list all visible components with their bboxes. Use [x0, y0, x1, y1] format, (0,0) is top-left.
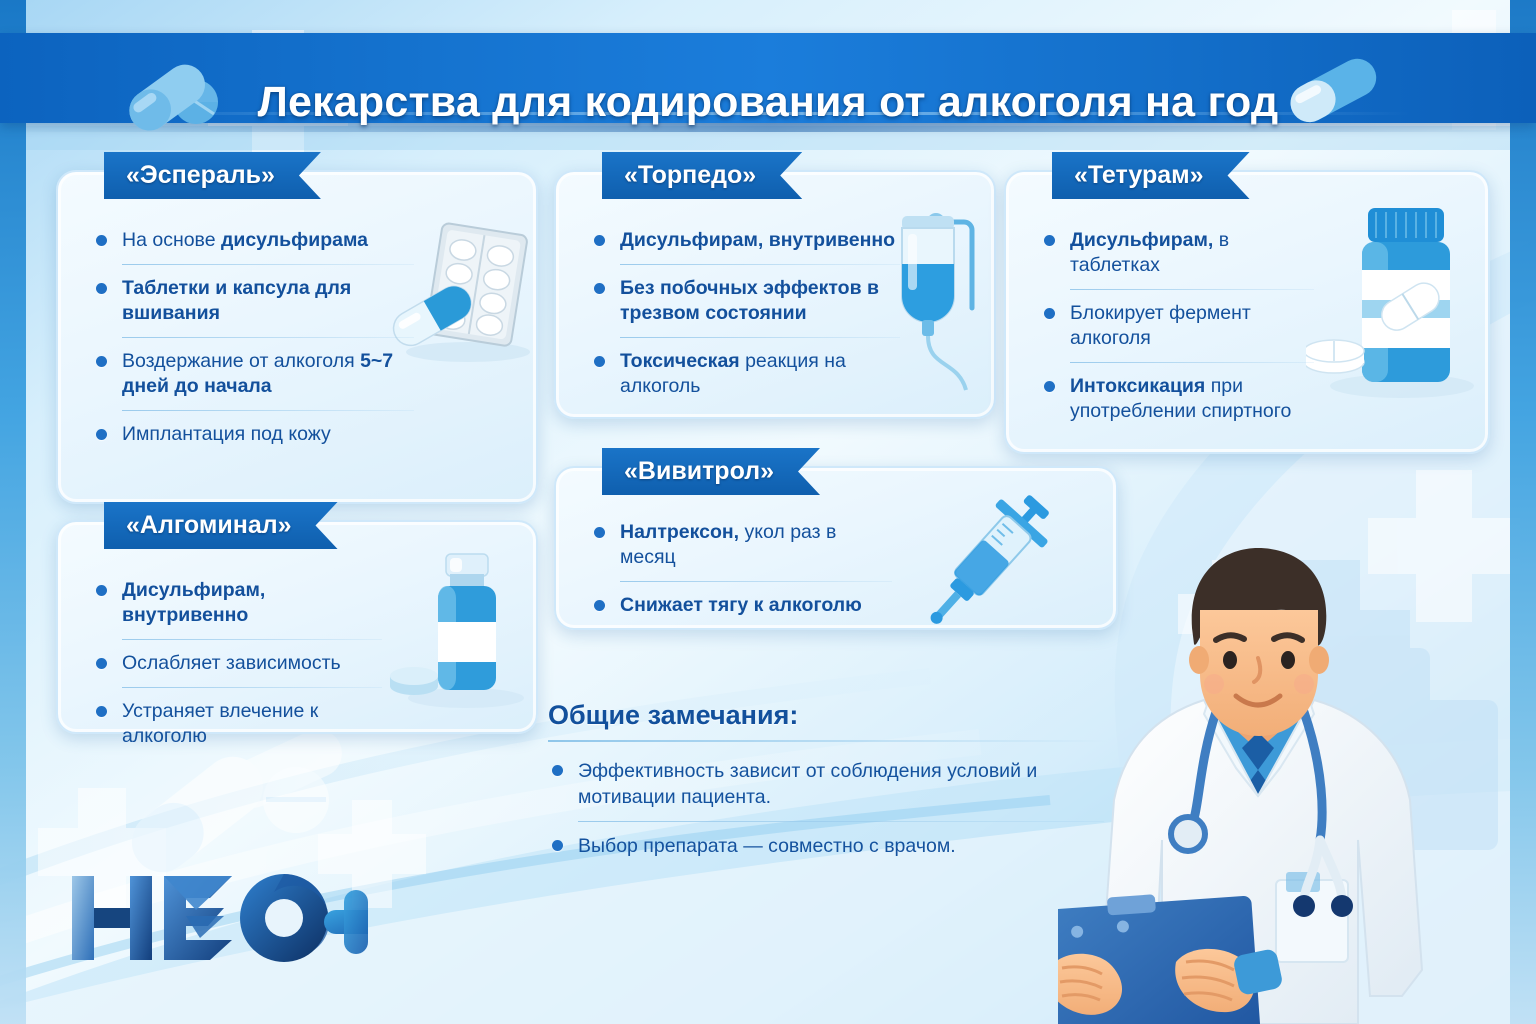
logo-letter-e	[164, 876, 232, 960]
vial-and-tablet-illustration	[388, 546, 538, 716]
bullet-separator	[122, 264, 414, 265]
bullet-item: Дисульфирам, внутривенно	[92, 578, 386, 628]
card-teturam[interactable]: «Тетурам» Дисульфирам, в та	[1004, 170, 1490, 454]
card-title-teturam: «Тетурам»	[1052, 152, 1250, 199]
bullet-list-torpedo: Дисульфирам, внутривенноБез побочных эфф…	[590, 228, 904, 399]
bullet-dot-icon	[96, 235, 107, 246]
bullet-text: Снижает тягу к алкоголю	[620, 594, 862, 616]
bullet-dot-icon	[594, 235, 605, 246]
doctor-with-clipboard-illustration	[1058, 500, 1528, 1024]
bullet-list-teturam: Дисульфирам, в таблеткахБлокирует фермен…	[1040, 228, 1318, 424]
bullet-separator	[620, 264, 900, 265]
bullet-dot-icon	[96, 706, 107, 717]
bullet-dot-icon	[552, 765, 563, 776]
card-esperal[interactable]: «Эспераль» На основе дисульфирамаТа	[56, 170, 538, 504]
bullet-dot-icon	[1044, 381, 1055, 392]
bullet-item: Воздержание от алкоголя 5~7 дней до нача…	[92, 349, 418, 399]
note-text: Выбор препарата — совместно с врачом.	[578, 835, 956, 857]
bullet-text: Ослабляет зависимость	[122, 652, 341, 674]
card-title-esperal: «Эспераль»	[104, 152, 321, 199]
page-title: Лекарства для кодирования от алкоголя на…	[0, 78, 1536, 127]
bullet-separator	[122, 687, 382, 688]
bullet-item: На основе дисульфирама	[92, 228, 418, 253]
bullet-item: Устраняет влечение к алкоголю	[92, 699, 386, 749]
bullet-dot-icon	[96, 585, 107, 596]
bullet-text: Без побочных эффектов в трезвом состояни…	[620, 277, 879, 324]
bullet-dot-icon	[594, 356, 605, 367]
bullet-item: Таблетки и капсула для вшивания	[92, 276, 418, 326]
logo-neo-plus[interactable]	[68, 868, 368, 972]
bullet-text: Токсическая	[620, 350, 740, 372]
bullet-dot-icon	[552, 840, 563, 851]
pill-bottle-illustration	[1306, 196, 1486, 406]
bullet-text: Интоксикация	[1070, 375, 1205, 397]
logo-letter-o	[240, 874, 329, 962]
bullet-dot-icon	[96, 658, 107, 669]
bullet-text: дисульфирама	[221, 229, 368, 251]
card-algominal[interactable]: «Алгоминал» Дисульфирам, внутривенноОсла…	[56, 520, 538, 734]
bullet-text: Устраняет влечение к алкоголю	[122, 700, 318, 747]
bullet-text: Таблетки и капсула	[122, 277, 310, 299]
bullet-dot-icon	[594, 527, 605, 538]
bullet-text: На основе	[122, 229, 221, 251]
note-separator	[578, 821, 1104, 822]
note-text: Эффективность зависит от соблюдения усло…	[578, 760, 1037, 808]
bullet-dot-icon	[96, 356, 107, 367]
notes-list: Эффективность зависит от соблюдения усло…	[548, 758, 1108, 859]
bullet-dot-icon	[1044, 308, 1055, 319]
bullet-item: Дисульфирам, в таблетках	[1040, 228, 1318, 278]
card-title-torpedo: «Торпедо»	[602, 152, 802, 199]
bullet-item: Без побочных эффектов в трезвом состояни…	[590, 276, 904, 326]
bullet-text: Дисульфирам,	[1070, 229, 1213, 251]
bullet-separator	[1070, 362, 1314, 363]
infographic-poster: Лекарства для кодирования от алкоголя на…	[0, 0, 1536, 1024]
card-torpedo[interactable]: «Торпедо» Дисульфирам, внутривенноБез по…	[554, 170, 996, 419]
notes-title: Общие замечания:	[548, 700, 1108, 731]
bullet-text: Блокирует фермент алкоголя	[1070, 302, 1251, 349]
bullet-item: Налтрексон, укол раз в месяц	[590, 520, 896, 570]
syringe-illustration	[896, 476, 1076, 644]
bullet-item: Интоксикация при употреблении спиртного	[1040, 374, 1318, 424]
notes-divider	[548, 740, 1108, 742]
bullet-item: Имплантация под кожу	[92, 422, 418, 447]
logo-letter-n	[72, 876, 152, 960]
bullet-separator	[1070, 289, 1314, 290]
bullet-list-esperal: На основе дисульфирамаТаблетки и капсула…	[92, 228, 418, 447]
bullet-dot-icon	[96, 283, 107, 294]
bullet-separator	[122, 337, 414, 338]
card-vivitrol[interactable]: «Вивитрол» Налтрексон, укол раз в месяцС…	[554, 466, 1118, 630]
bullet-list-algominal: Дисульфирам, внутривенноОслабляет зависи…	[92, 578, 386, 749]
bullet-dot-icon	[1044, 235, 1055, 246]
bullet-separator	[620, 337, 900, 338]
bullet-separator	[620, 581, 892, 582]
bullet-text: Дисульфирам, внутривенно	[620, 229, 895, 251]
bullet-dot-icon	[96, 429, 107, 440]
note-item: Выбор препарата — совместно с врачом.	[548, 833, 1108, 859]
bullet-dot-icon	[594, 283, 605, 294]
logo-plus-icon	[324, 890, 368, 954]
bullet-separator	[122, 639, 382, 640]
general-notes-section: Общие замечания: Эффективность зависит о…	[548, 700, 1108, 859]
bullet-list-vivitrol: Налтрексон, укол раз в месяцСнижает тягу…	[590, 520, 896, 618]
bullet-text: Воздержание от алкоголя	[122, 350, 360, 372]
bullet-item: Снижает тягу к алкоголю	[590, 593, 896, 618]
bullet-separator	[122, 410, 414, 411]
card-title-vivitrol: «Вивитрол»	[602, 448, 820, 495]
bullet-text: Налтрексон,	[620, 521, 739, 543]
bullet-item: Ослабляет зависимость	[92, 651, 386, 676]
bullet-item: Блокирует фермент алкоголя	[1040, 301, 1318, 351]
left-edge-band	[0, 0, 26, 1024]
card-title-algominal: «Алгоминал»	[104, 502, 338, 549]
bullet-text: Дисульфирам, внутривенно	[122, 579, 265, 626]
bullet-text: Имплантация под кожу	[122, 423, 331, 445]
bullet-item: Дисульфирам, внутривенно	[590, 228, 904, 253]
note-item: Эффективность зависит от соблюдения усло…	[548, 758, 1108, 810]
bullet-dot-icon	[594, 600, 605, 611]
bullet-item: Токсическая реакция на алкоголь	[590, 349, 904, 399]
